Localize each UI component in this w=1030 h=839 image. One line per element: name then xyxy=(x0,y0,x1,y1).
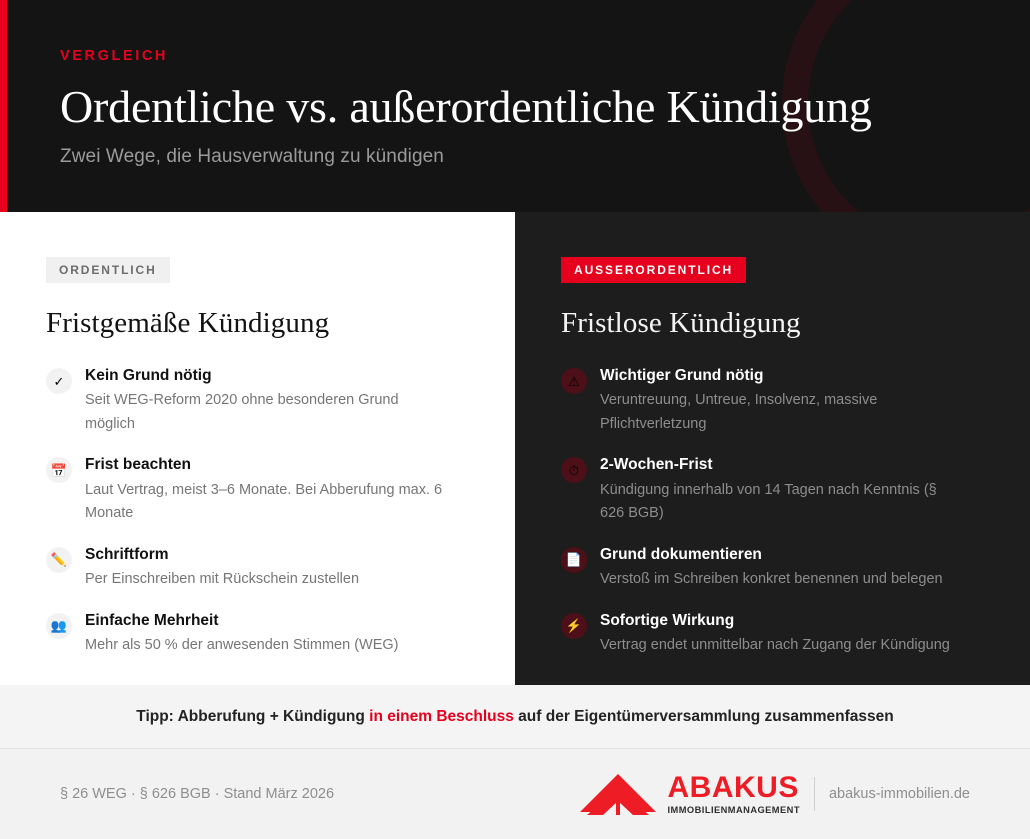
list-item: 📅 Frist beachten Laut Vertrag, meist 3–6… xyxy=(46,455,485,525)
badge-ausserordentlich: AUSSERORDENTLICH xyxy=(561,257,746,283)
feature-body: Schriftform Per Einschreiben mit Rücksch… xyxy=(85,545,485,592)
brand-url: abakus-immobilien.de xyxy=(829,786,970,802)
footer: § 26 WEG · § 626 BGB · Stand März 2026 A… xyxy=(0,748,1030,839)
list-item: ⏱ 2-Wochen-Frist Kündigung innerhalb von… xyxy=(561,455,996,525)
column-right-title: Fristlose Kündigung xyxy=(561,307,996,340)
people-icon: 👥 xyxy=(46,613,72,639)
tip-banner: Tipp: Abberufung + Kündigung in einem Be… xyxy=(0,685,1030,748)
brand-divider xyxy=(814,777,815,811)
tip-suffix: auf der Eigentümerversammlung zusammenfa… xyxy=(514,708,894,725)
warning-triangle-icon: ⚠ xyxy=(561,368,587,394)
feature-title: Kein Grund nötig xyxy=(85,366,485,385)
feature-title: Einfache Mehrheit xyxy=(85,611,485,630)
feature-desc: Kündigung innerhalb von 14 Tagen nach Ke… xyxy=(600,479,960,526)
feature-body: Sofortige Wirkung Vertrag endet unmittel… xyxy=(600,611,996,658)
comparison-columns: ORDENTLICH Fristgemäße Kündigung ✓ Kein … xyxy=(0,212,1030,685)
brand-block: ABAKUS IMMOBILIENMANAGEMENT abakus-immob… xyxy=(579,771,970,817)
feature-body: Wichtiger Grund nötig Veruntreuung, Untr… xyxy=(600,366,996,436)
feature-desc: Verstoß im Schreiben konkret benennen un… xyxy=(600,568,960,591)
infographic-page: VERGLEICH Ordentliche vs. außerordentlic… xyxy=(0,0,1030,839)
logo-subtitle: IMMOBILIENMANAGEMENT xyxy=(668,806,800,815)
abakus-roof-icon xyxy=(579,771,657,817)
list-item: ✓ Kein Grund nötig Seit WEG-Reform 2020 … xyxy=(46,366,485,436)
check-icon: ✓ xyxy=(46,368,72,394)
tip-highlight: in einem Beschluss xyxy=(369,708,514,725)
feature-title: Sofortige Wirkung xyxy=(600,611,996,630)
badge-ordentlich: ORDENTLICH xyxy=(46,257,170,283)
feature-desc: Vertrag endet unmittelbar nach Zugang de… xyxy=(600,634,960,657)
logo-word: ABAKUS xyxy=(668,773,800,803)
feature-title: Grund dokumentieren xyxy=(600,545,996,564)
header-banner: VERGLEICH Ordentliche vs. außerordentlic… xyxy=(0,0,1030,212)
abakus-logo: ABAKUS IMMOBILIENMANAGEMENT xyxy=(579,771,800,817)
feature-list-left: ✓ Kein Grund nötig Seit WEG-Reform 2020 … xyxy=(46,366,485,657)
list-item: 👥 Einfache Mehrheit Mehr als 50 % der an… xyxy=(46,611,485,658)
page-subtitle: Zwei Wege, die Hausverwaltung zu kündige… xyxy=(60,146,1030,168)
column-ausserordentlich: AUSSERORDENTLICH Fristlose Kündigung ⚠ W… xyxy=(515,212,1030,685)
list-item: ⚠ Wichtiger Grund nötig Veruntreuung, Un… xyxy=(561,366,996,436)
lightning-icon: ⚡ xyxy=(561,613,587,639)
feature-desc: Laut Vertrag, meist 3–6 Monate. Bei Abbe… xyxy=(85,479,445,526)
feature-desc: Mehr als 50 % der anwesenden Stimmen (WE… xyxy=(85,634,445,657)
header-eyebrow: VERGLEICH xyxy=(60,48,1030,64)
document-icon: 📄 xyxy=(561,547,587,573)
feature-body: Kein Grund nötig Seit WEG-Reform 2020 oh… xyxy=(85,366,485,436)
header-content: VERGLEICH Ordentliche vs. außerordentlic… xyxy=(0,0,1030,168)
pencil-icon: ✏️ xyxy=(46,547,72,573)
legal-text: § 26 WEG · § 626 BGB · Stand März 2026 xyxy=(60,786,334,802)
feature-body: Einfache Mehrheit Mehr als 50 % der anwe… xyxy=(85,611,485,658)
list-item: 📄 Grund dokumentieren Verstoß im Schreib… xyxy=(561,545,996,592)
feature-desc: Per Einschreiben mit Rückschein zustelle… xyxy=(85,568,445,591)
feature-body: 2-Wochen-Frist Kündigung innerhalb von 1… xyxy=(600,455,996,525)
feature-title: 2-Wochen-Frist xyxy=(600,455,996,474)
tip-prefix: Tipp: Abberufung + Kündigung xyxy=(136,708,369,725)
column-ordentlich: ORDENTLICH Fristgemäße Kündigung ✓ Kein … xyxy=(0,212,515,685)
feature-body: Frist beachten Laut Vertrag, meist 3–6 M… xyxy=(85,455,485,525)
feature-title: Wichtiger Grund nötig xyxy=(600,366,996,385)
list-item: ⚡ Sofortige Wirkung Vertrag endet unmitt… xyxy=(561,611,996,658)
feature-list-right: ⚠ Wichtiger Grund nötig Veruntreuung, Un… xyxy=(561,366,996,657)
page-title: Ordentliche vs. außerordentliche Kündigu… xyxy=(60,81,1030,133)
feature-desc: Veruntreuung, Untreue, Insolvenz, massiv… xyxy=(600,389,960,436)
column-left-title: Fristgemäße Kündigung xyxy=(46,307,485,340)
logo-wordmark: ABAKUS IMMOBILIENMANAGEMENT xyxy=(668,773,800,815)
tip-text: Tipp: Abberufung + Kündigung in einem Be… xyxy=(136,708,894,726)
feature-title: Frist beachten xyxy=(85,455,485,474)
calendar-icon: 📅 xyxy=(46,457,72,483)
feature-title: Schriftform xyxy=(85,545,485,564)
stopwatch-icon: ⏱ xyxy=(561,457,587,483)
list-item: ✏️ Schriftform Per Einschreiben mit Rück… xyxy=(46,545,485,592)
feature-body: Grund dokumentieren Verstoß im Schreiben… xyxy=(600,545,996,592)
feature-desc: Seit WEG-Reform 2020 ohne besonderen Gru… xyxy=(85,389,445,436)
